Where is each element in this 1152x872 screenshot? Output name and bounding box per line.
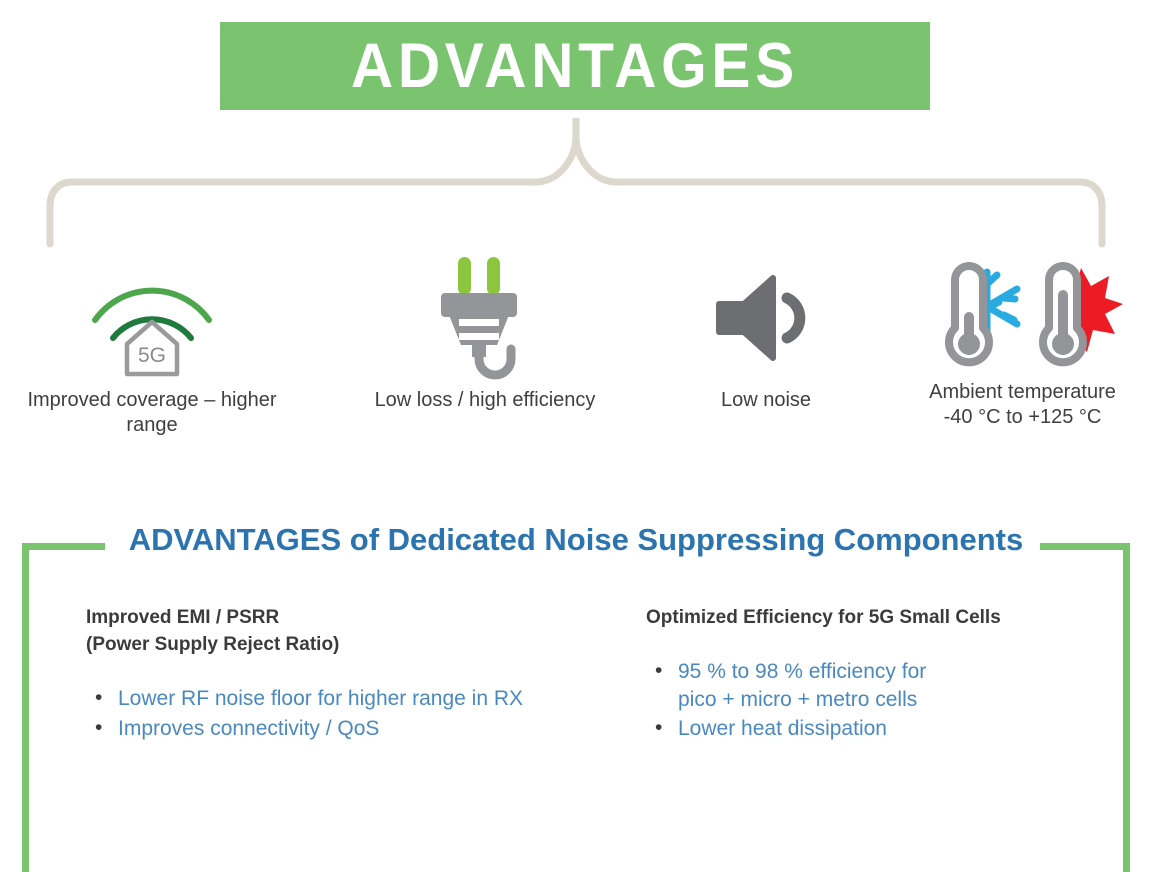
5g-signal-icon: 5G — [77, 258, 227, 378]
feature-item-low-noise: Low noise — [660, 248, 872, 413]
icon-container — [895, 248, 1150, 388]
column-emi-psrr: Improved EMI / PSRR (Power Supply Reject… — [86, 605, 586, 745]
thermometer-hot-icon — [1043, 266, 1083, 362]
advantages-columns: Improved EMI / PSRR (Power Supply Reject… — [0, 605, 1152, 745]
list-item: 95 % to 98 % efficiency for pico + micro… — [646, 658, 1086, 713]
icon-container — [660, 248, 872, 388]
column-heading: Improved EMI / PSRR (Power Supply Reject… — [86, 605, 586, 659]
feature-caption: Low noise — [660, 388, 872, 413]
feature-caption: Ambient temperature -40 °C to +125 °C — [895, 380, 1150, 430]
page-title: ADVANTAGES — [351, 35, 799, 98]
feature-item-temperature: Ambient temperature -40 °C to +125 °C — [895, 248, 1150, 430]
column-optimized-efficiency: Optimized Efficiency for 5G Small Cells … — [646, 605, 1086, 745]
list-item: Improves connectivity / QoS — [86, 715, 586, 743]
speaker-icon — [711, 268, 821, 368]
bullet-list: 95 % to 98 % efficiency for pico + micro… — [646, 658, 1086, 743]
icon-container — [330, 248, 640, 388]
thermometer-cold-icon — [949, 266, 989, 362]
feature-item-efficiency: Low loss / high efficiency — [330, 248, 640, 413]
list-item: Lower heat dissipation — [646, 715, 1086, 743]
feature-caption: Low loss / high efficiency — [330, 388, 640, 413]
brace-connector-icon — [0, 118, 1152, 248]
power-plug-icon — [425, 253, 545, 383]
advantages-title-banner: ADVANTAGES — [220, 22, 930, 110]
column-heading: Optimized Efficiency for 5G Small Cells — [646, 605, 1086, 632]
icon-container: 5G — [0, 248, 304, 388]
feature-caption: Improved coverage – higher range — [0, 388, 304, 438]
thermometer-hot-cold-icon — [923, 258, 1123, 378]
5g-badge-label: 5G — [138, 344, 166, 367]
feature-icon-row: 5G Improved coverage – higher range Low … — [0, 248, 1152, 458]
section-heading: ADVANTAGES of Dedicated Noise Suppressin… — [0, 522, 1152, 558]
bullet-list: Lower RF noise floor for higher range in… — [86, 685, 586, 742]
list-item: Lower RF noise floor for higher range in… — [86, 685, 586, 713]
feature-item-coverage: 5G Improved coverage – higher range — [0, 248, 304, 438]
